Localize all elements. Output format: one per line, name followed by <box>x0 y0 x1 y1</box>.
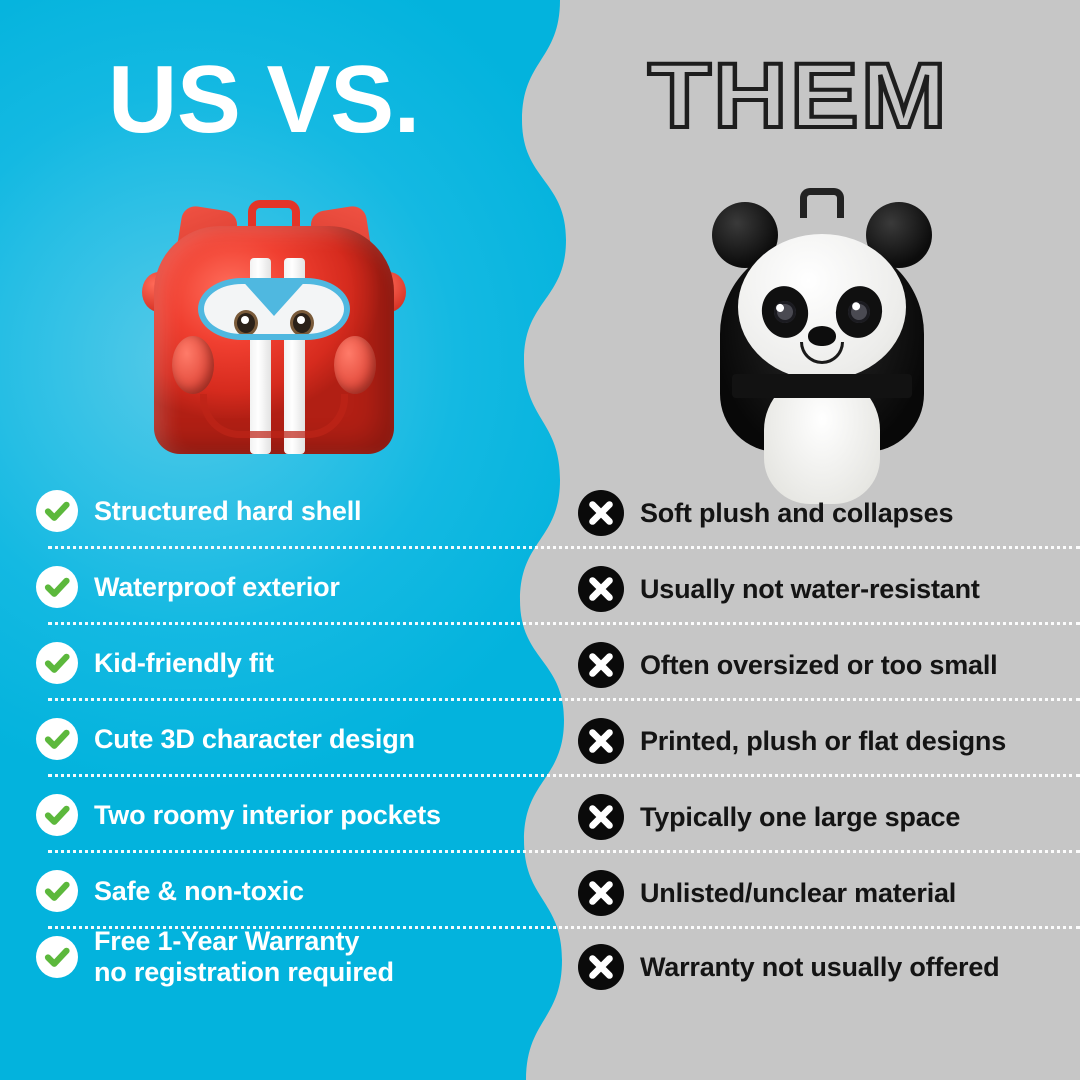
check-circle-icon <box>36 566 78 608</box>
con-item-label: Unlisted/unclear material <box>640 878 956 909</box>
row-separator <box>48 774 1080 777</box>
cross-circle-icon <box>578 490 624 536</box>
pro-item-label: Safe & non-toxic <box>94 876 304 907</box>
con-list-item: Typically one large space <box>578 794 1078 840</box>
pro-item-label: Structured hard shell <box>94 496 361 527</box>
cross-circle-icon <box>578 642 624 688</box>
check-circle-icon <box>36 870 78 912</box>
comparison-lists: Structured hard shellWaterproof exterior… <box>0 0 1080 1080</box>
check-circle-icon <box>36 936 78 978</box>
pro-list-item: Free 1-Year Warrantyno registration requ… <box>36 926 536 987</box>
con-item-label: Often oversized or too small <box>640 650 997 681</box>
pro-list-item: Two roomy interior pockets <box>36 794 536 836</box>
row-separator <box>48 850 1080 853</box>
pro-item-label: Free 1-Year Warrantyno registration requ… <box>94 926 394 987</box>
pro-item-label-line2: no registration required <box>94 957 394 988</box>
con-item-label: Warranty not usually offered <box>640 952 999 983</box>
con-list-item: Soft plush and collapses <box>578 490 1078 536</box>
pro-list-item: Kid-friendly fit <box>36 642 536 684</box>
cross-circle-icon <box>578 794 624 840</box>
check-circle-icon <box>36 490 78 532</box>
con-list-item: Unlisted/unclear material <box>578 870 1078 916</box>
pro-list-item: Safe & non-toxic <box>36 870 536 912</box>
row-separator <box>48 698 1080 701</box>
pro-item-label: Waterproof exterior <box>94 572 340 603</box>
pro-list-item: Cute 3D character design <box>36 718 536 760</box>
con-list-item: Usually not water-resistant <box>578 566 1078 612</box>
cross-circle-icon <box>578 944 624 990</box>
pro-item-label: Cute 3D character design <box>94 724 415 755</box>
check-circle-icon <box>36 718 78 760</box>
con-list-item: Warranty not usually offered <box>578 944 1078 990</box>
check-circle-icon <box>36 642 78 684</box>
con-list-item: Often oversized or too small <box>578 642 1078 688</box>
con-list-item: Printed, plush or flat designs <box>578 718 1078 764</box>
con-item-label: Printed, plush or flat designs <box>640 726 1006 757</box>
check-circle-icon <box>36 794 78 836</box>
pro-list-item: Waterproof exterior <box>36 566 536 608</box>
row-separator <box>48 546 1080 549</box>
con-item-label: Soft plush and collapses <box>640 498 953 529</box>
row-separator <box>48 622 1080 625</box>
comparison-infographic: US VS. THEM <box>0 0 1080 1080</box>
cross-circle-icon <box>578 718 624 764</box>
cross-circle-icon <box>578 566 624 612</box>
con-item-label: Usually not water-resistant <box>640 574 980 605</box>
pro-list-item: Structured hard shell <box>36 490 536 532</box>
cross-circle-icon <box>578 870 624 916</box>
pro-item-label: Kid-friendly fit <box>94 648 274 679</box>
con-item-label: Typically one large space <box>640 802 960 833</box>
pro-item-label: Two roomy interior pockets <box>94 800 441 831</box>
